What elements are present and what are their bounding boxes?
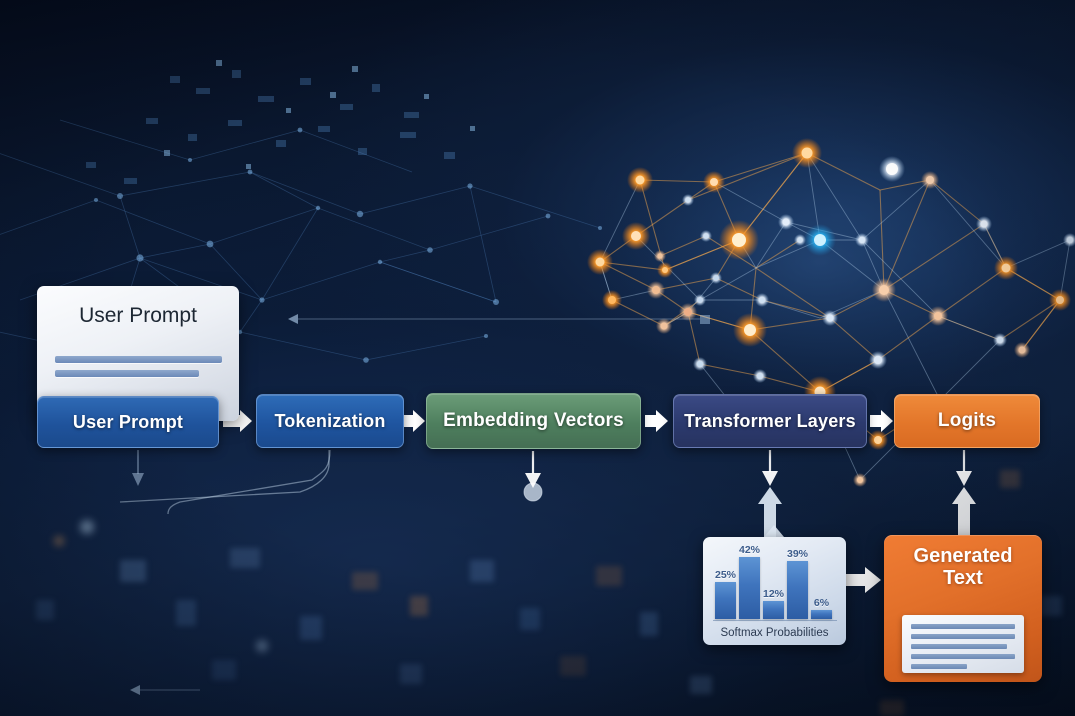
chart-bar: [715, 582, 736, 619]
pipeline-box-label: User Prompt: [73, 412, 183, 433]
generated-text-line: [911, 664, 967, 669]
chart-bar-group: 39%: [787, 561, 808, 619]
chart-bar-value-label: 12%: [756, 588, 791, 600]
generated-text-document: [902, 615, 1024, 673]
chart-bar-group: 6%: [811, 610, 832, 619]
pipeline-box-tokenization[interactable]: Tokenization: [256, 394, 404, 448]
generated-text-title: Generated Text: [892, 545, 1034, 590]
user-prompt-card-title: User Prompt: [37, 304, 239, 328]
diagram-canvas: User Prompt User Prompt Tokenization Emb…: [0, 0, 1075, 716]
generated-text-line: [911, 624, 1015, 629]
chart-baseline: [713, 620, 837, 621]
pipeline-box-label: Transformer Layers: [684, 411, 856, 432]
chart-bar-value-label: 42%: [732, 544, 767, 556]
pipeline-box-embedding-vectors[interactable]: Embedding Vectors: [426, 393, 641, 449]
pipeline-box-logits[interactable]: Logits: [894, 394, 1040, 448]
chart-bar-group: 12%: [763, 601, 784, 619]
generated-text-title-line2: Text: [892, 567, 1034, 589]
pipeline-box-label: Embedding Vectors: [443, 410, 624, 432]
generated-text-line: [911, 654, 1015, 659]
chart-plot-area: 25%42%12%39%6%: [715, 545, 836, 619]
softmax-probabilities-chart[interactable]: 25%42%12%39%6% Softmax Probabilities: [703, 537, 846, 645]
chart-bar-value-label: 25%: [708, 569, 743, 581]
pipeline-box-transformer-layers[interactable]: Transformer Layers: [673, 394, 867, 448]
chart-bar-value-label: 6%: [804, 597, 839, 609]
chart-bar: [811, 610, 832, 619]
pipeline-box-label: Tokenization: [274, 411, 385, 432]
generated-text-panel[interactable]: Generated Text: [884, 535, 1042, 682]
chart-bar: [763, 601, 784, 619]
chart-bar-value-label: 39%: [780, 548, 815, 560]
chart-caption: Softmax Probabilities: [703, 627, 846, 639]
generated-text-line: [911, 644, 1007, 649]
chart-bar-group: 25%: [715, 582, 736, 619]
pipeline-box-label: Logits: [938, 410, 996, 432]
prompt-text-line: [55, 356, 222, 363]
generated-text-line: [911, 634, 1015, 639]
generated-text-title-line1: Generated: [892, 545, 1034, 567]
chart-bar: [787, 561, 808, 619]
prompt-text-line: [55, 370, 199, 377]
pipeline-box-user-prompt[interactable]: User Prompt: [37, 396, 219, 448]
